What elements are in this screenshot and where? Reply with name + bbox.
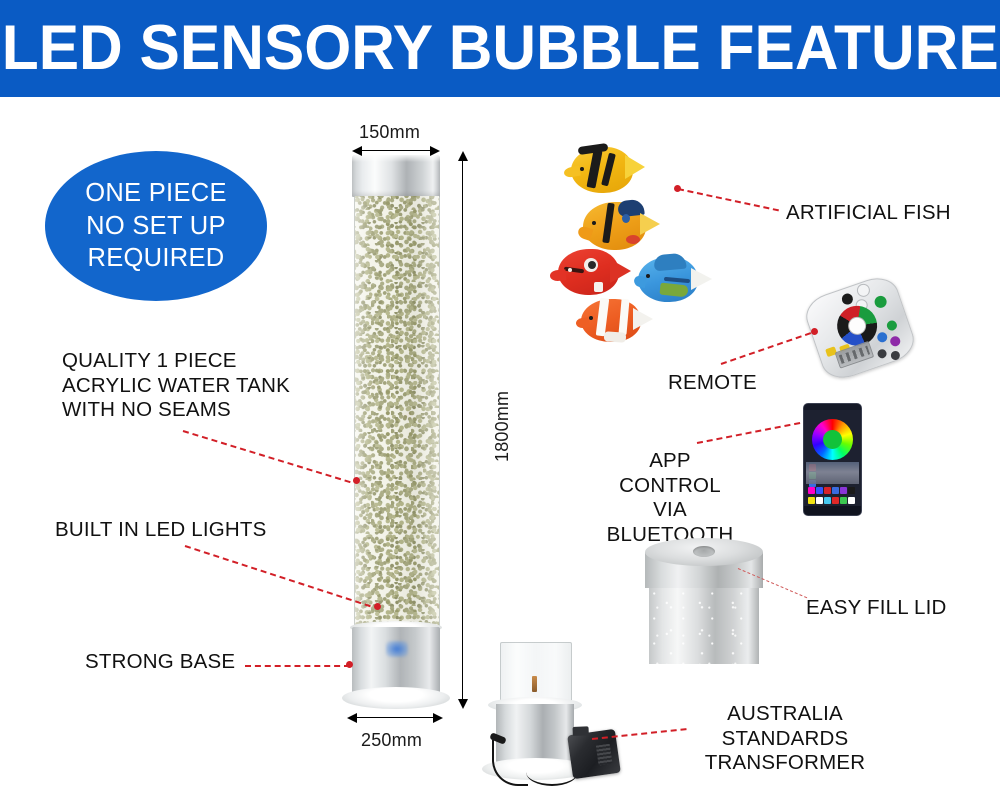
app-swatch[interactable] <box>832 497 839 504</box>
app-preview-image <box>806 462 859 484</box>
fish-spot-inner <box>588 261 596 269</box>
app-swatch[interactable] <box>848 487 855 494</box>
callout-easy-fill-lid: EASY FILL LID <box>806 596 946 621</box>
fish-eye <box>646 274 650 278</box>
dimension-arrow-height <box>462 160 463 700</box>
fish-eye <box>589 316 593 320</box>
bubble-tube-product <box>350 155 442 700</box>
dimension-width-top: 150mm <box>359 122 420 143</box>
callout-transformer: AUSTRALIA STANDARDS TRANSFORMER <box>690 702 880 776</box>
fish-snout <box>549 269 566 282</box>
led-glow <box>386 641 408 657</box>
transformer-base-photo <box>470 640 650 800</box>
leader-artificial-fish <box>678 188 779 211</box>
fish-eye <box>580 167 584 171</box>
fish-snout <box>633 275 647 288</box>
callout-remote: REMOTE <box>668 371 757 396</box>
dimension-arrow-top <box>361 150 431 151</box>
leader-dot-remote <box>811 328 818 335</box>
fish-tail <box>640 213 660 235</box>
fish-tail <box>633 308 653 330</box>
transformer-cable-left <box>492 740 528 786</box>
fish-fin <box>604 331 627 343</box>
app-swatch[interactable] <box>808 497 815 504</box>
fish-fin <box>594 282 603 292</box>
phone-nav-bar <box>804 506 861 515</box>
artificial-fish-1 <box>562 143 644 199</box>
bluetooth-app-phone <box>803 403 862 516</box>
callout-artificial-fish: ARTIFICIAL FISH <box>786 201 951 226</box>
fish-eye <box>592 221 596 225</box>
artificial-fish-5 <box>576 296 658 348</box>
app-swatch[interactable] <box>848 497 855 504</box>
app-swatch[interactable] <box>824 497 831 504</box>
one-piece-badge-label: ONE PIECE NO SET UP REQUIRED <box>85 177 227 274</box>
leader-acrylic-tank <box>183 430 351 483</box>
tube-top-cap <box>352 155 440 197</box>
infographic-canvas: LED SENSORY BUBBLE FEATURE ONE PIECE NO … <box>0 0 1000 800</box>
app-swatch[interactable] <box>840 497 847 504</box>
tube-sheen <box>355 196 439 626</box>
fish-tail <box>691 268 712 290</box>
app-swatch[interactable] <box>816 487 823 494</box>
leader-dot-artificial-fish <box>674 185 681 192</box>
app-swatch[interactable] <box>816 497 823 504</box>
lid-column <box>649 588 759 664</box>
leader-dot-strong-base <box>346 661 353 668</box>
callout-led-lights: BUILT IN LED LIGHTS <box>55 518 335 543</box>
dimension-width-base: 250mm <box>361 730 422 751</box>
fish-snout <box>575 317 589 329</box>
transformer-nozzle <box>532 676 537 692</box>
remote-white-button[interactable] <box>847 316 867 336</box>
page-title: LED SENSORY BUBBLE FEATURE <box>2 17 999 80</box>
callout-app-control: APP CONTROL VIA BLUETOOTH <box>600 449 740 547</box>
leader-dot-led-lights <box>374 603 381 610</box>
leader-app-control <box>697 422 800 444</box>
easy-fill-lid-photo <box>645 538 763 663</box>
app-color-wheel[interactable] <box>812 419 853 460</box>
one-piece-badge: ONE PIECE NO SET UP REQUIRED <box>45 151 267 301</box>
leader-dot-acrylic-tank <box>353 477 360 484</box>
app-swatch[interactable] <box>840 487 847 494</box>
app-swatch[interactable] <box>832 487 839 494</box>
tube-base-foot <box>342 687 450 709</box>
header-banner: LED SENSORY BUBBLE FEATURE <box>0 0 1000 97</box>
artificial-fish-3 <box>550 246 634 302</box>
fish-tail <box>625 155 645 179</box>
fish-tail <box>610 259 631 283</box>
callout-acrylic-tank: QUALITY 1 PIECE ACRYLIC WATER TANK WITH … <box>62 349 342 423</box>
rgb-remote-control <box>801 272 920 385</box>
callout-strong-base: STRONG BASE <box>85 650 325 675</box>
dimension-arrow-base <box>356 717 434 718</box>
leader-led-lights <box>185 545 371 607</box>
app-swatch[interactable] <box>808 487 815 494</box>
lid-fill-hole <box>693 546 715 557</box>
phone-status-bar <box>804 404 861 410</box>
fish-dorsal <box>653 253 686 272</box>
tube-acrylic-body <box>354 196 440 626</box>
fish-accent <box>622 214 630 223</box>
fish-accent <box>626 235 640 244</box>
transformer-plug <box>567 729 621 779</box>
app-swatch[interactable] <box>824 487 831 494</box>
leader-remote <box>721 332 811 365</box>
dimension-height: 1800mm <box>492 391 513 462</box>
fish-eye <box>568 268 572 272</box>
